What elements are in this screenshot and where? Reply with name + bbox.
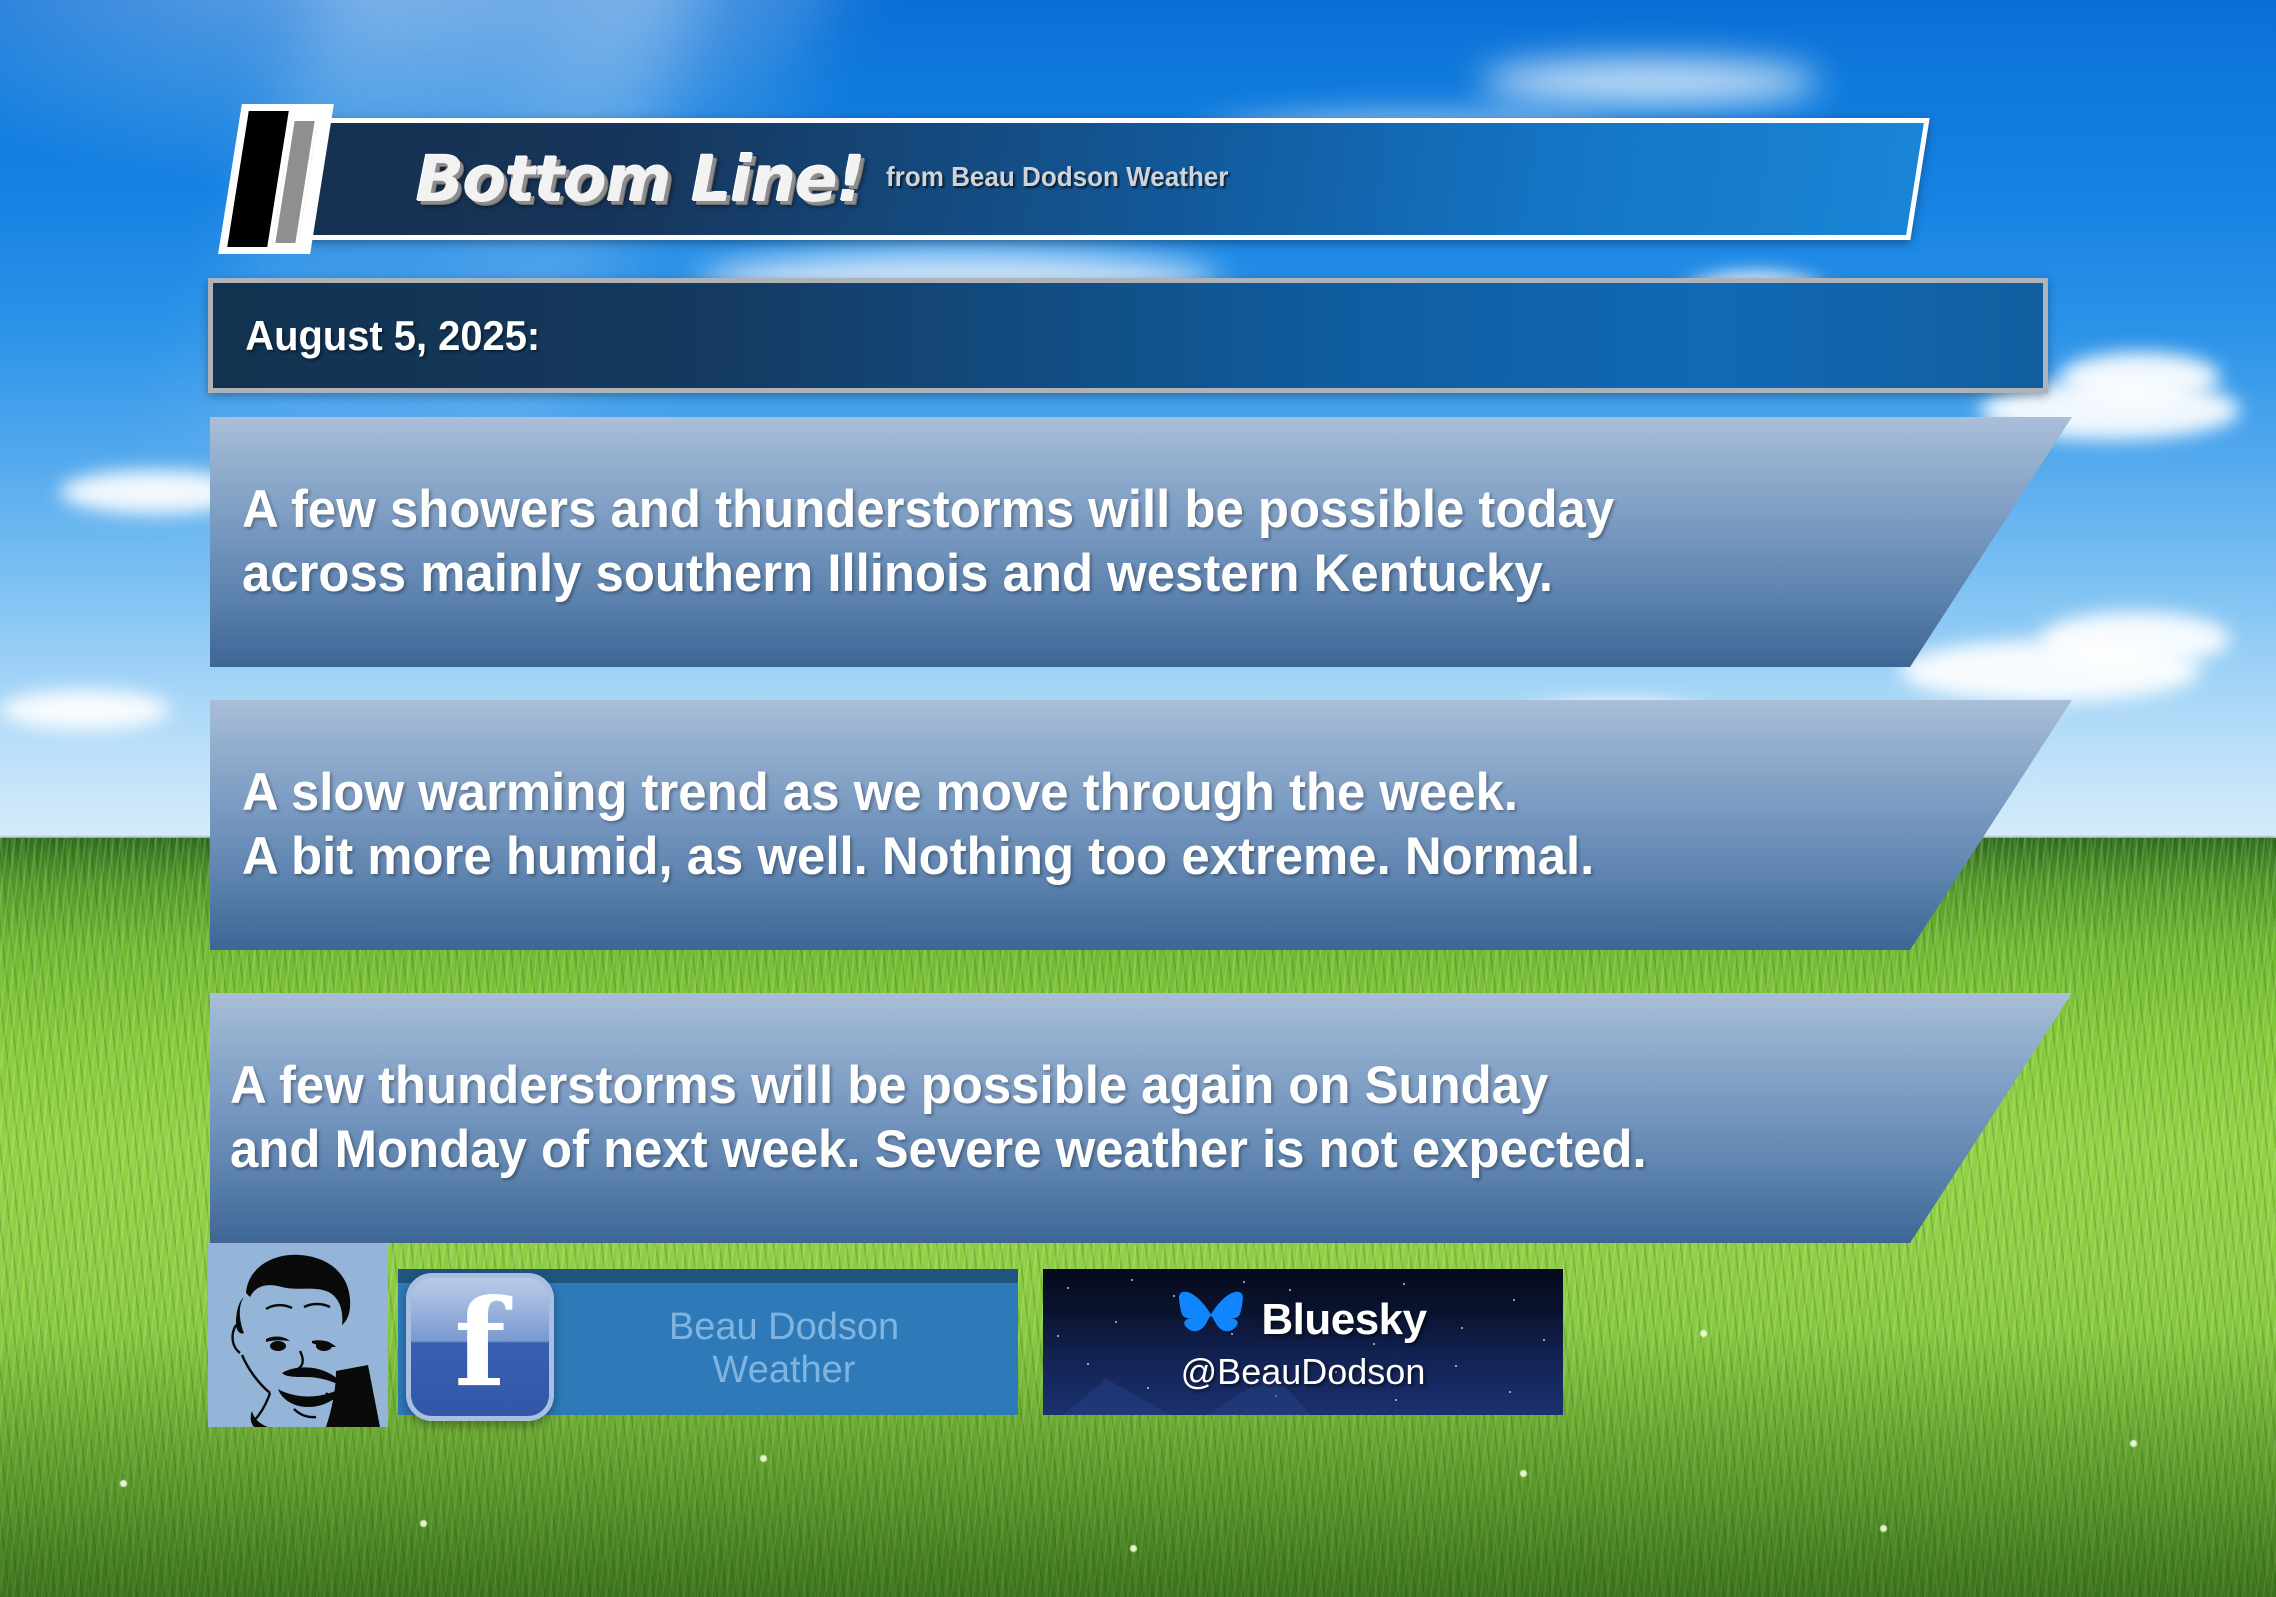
cloud — [2040, 612, 2230, 666]
date-text: August 5, 2025: — [213, 312, 540, 360]
facebook-label-line2: Weather — [574, 1349, 994, 1392]
cloud — [0, 690, 170, 730]
facebook-link[interactable]: f Beau Dodson Weather — [398, 1269, 1018, 1415]
facebook-icon[interactable]: f — [406, 1273, 554, 1421]
forecast-line: A bit more humid, as well. Nothing too e… — [242, 825, 1999, 889]
date-bar: August 5, 2025: — [208, 278, 2048, 393]
flower — [1880, 1525, 1887, 1532]
page-subtitle: from Beau Dodson Weather — [886, 161, 1228, 197]
forecast-panel-1: A few showers and thunderstorms will be … — [210, 417, 2072, 667]
forecast-line: across mainly southern Illinois and west… — [242, 542, 1999, 606]
bluesky-butterfly-icon — [1179, 1291, 1245, 1349]
avatar — [208, 1243, 388, 1427]
facebook-label-line1: Beau Dodson — [574, 1306, 994, 1349]
bluesky-handle: @BeauDodson — [1181, 1351, 1426, 1393]
bluesky-label: Bluesky — [1261, 1295, 1426, 1345]
forecast-panel-3: A few thunderstorms will be possible aga… — [210, 993, 2072, 1243]
facebook-f-glyph: f — [411, 1284, 549, 1404]
forecast-panel-2: A slow warming trend as we move through … — [210, 700, 2072, 950]
flower — [1130, 1545, 1137, 1552]
forecast-line: A slow warming trend as we move through … — [242, 761, 1999, 825]
cloud — [2060, 352, 2220, 402]
flower — [1520, 1470, 1527, 1477]
page-title: Bottom Line! — [416, 143, 864, 216]
facebook-label: Beau Dodson Weather — [574, 1306, 994, 1391]
flower — [120, 1480, 127, 1487]
forecast-line: A few thunderstorms will be possible aga… — [230, 1054, 1998, 1118]
forecast-line: and Monday of next week. Severe weather … — [230, 1118, 1998, 1182]
flower — [1700, 1330, 1707, 1337]
title-banner: Bottom Line! from Beau Dodson Weather — [246, 118, 1920, 240]
flower — [420, 1520, 427, 1527]
forecast-line: A few showers and thunderstorms will be … — [242, 478, 1999, 542]
cloud-haze — [1480, 60, 1820, 104]
bluesky-link[interactable]: Bluesky @BeauDodson — [1043, 1269, 1563, 1415]
flower — [2130, 1440, 2137, 1447]
flower — [760, 1455, 767, 1462]
